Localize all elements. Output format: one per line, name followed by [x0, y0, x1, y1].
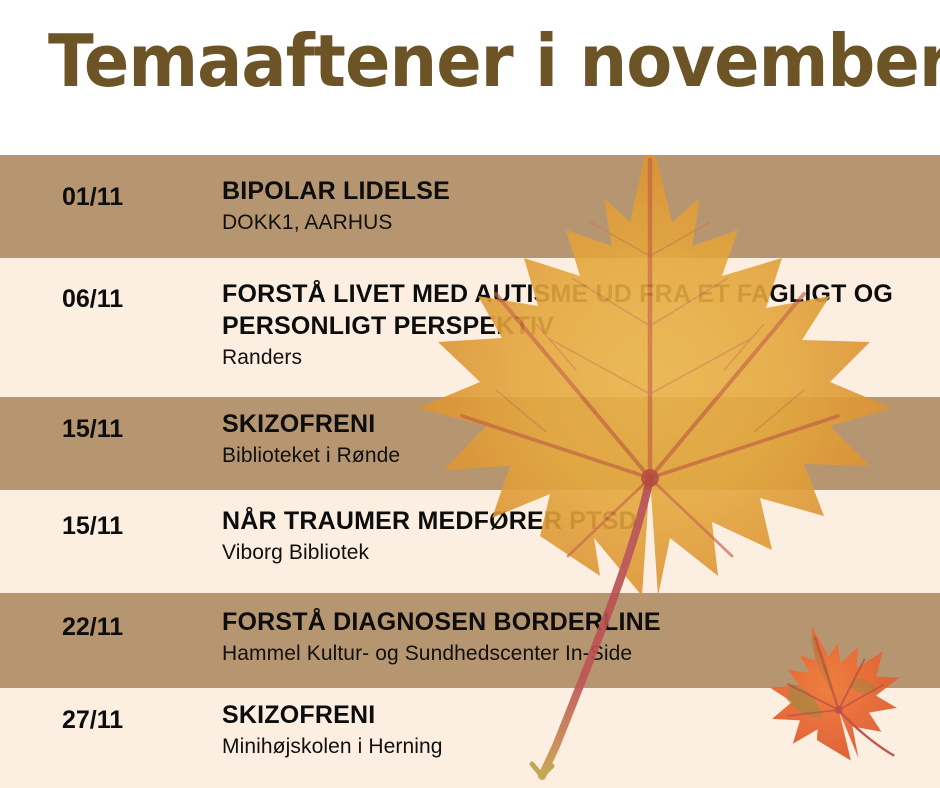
event-date: 15/11 — [62, 512, 212, 541]
poster-canvas: 01/11 BIPOLAR LIDELSE DOKK1, AARHUS 06/1… — [0, 0, 940, 788]
event-venue: Randers — [222, 345, 930, 371]
event-body: NÅR TRAUMER MEDFØRER PTSD Viborg Bibliot… — [222, 506, 930, 566]
poster-header: Temaaftener i november — [0, 0, 940, 155]
event-title: SKIZOFRENI — [222, 700, 930, 732]
event-date: 27/11 — [62, 706, 212, 735]
event-row: 15/11 SKIZOFRENI Biblioteket i Rønde — [0, 397, 940, 490]
event-title: SKIZOFRENI — [222, 409, 930, 441]
event-body: FORSTÅ LIVET MED AUTISME UD FRA ET FAGLI… — [222, 279, 930, 371]
event-row: 27/11 SKIZOFRENI Minihøjskolen i Herning — [0, 688, 940, 788]
event-body: FORSTÅ DIAGNOSEN BORDERLINE Hammel Kultu… — [222, 607, 930, 667]
event-venue: DOKK1, AARHUS — [222, 210, 930, 236]
event-title: FORSTÅ LIVET MED AUTISME UD FRA ET FAGLI… — [222, 279, 930, 343]
event-venue: Minihøjskolen i Herning — [222, 734, 930, 760]
event-row: 22/11 FORSTÅ DIAGNOSEN BORDERLINE Hammel… — [0, 593, 940, 688]
event-body: SKIZOFRENI Minihøjskolen i Herning — [222, 700, 930, 760]
event-row: 01/11 BIPOLAR LIDELSE DOKK1, AARHUS — [0, 155, 940, 258]
event-date: 15/11 — [62, 415, 212, 444]
event-title: NÅR TRAUMER MEDFØRER PTSD — [222, 506, 930, 538]
event-title: FORSTÅ DIAGNOSEN BORDERLINE — [222, 607, 930, 639]
event-title: BIPOLAR LIDELSE — [222, 176, 930, 208]
page-title: Temaaftener i november — [48, 24, 940, 100]
event-date: 01/11 — [62, 183, 212, 212]
event-body: BIPOLAR LIDELSE DOKK1, AARHUS — [222, 176, 930, 236]
event-date: 22/11 — [62, 613, 212, 642]
event-body: SKIZOFRENI Biblioteket i Rønde — [222, 409, 930, 469]
event-date: 06/11 — [62, 285, 212, 314]
event-row: 06/11 FORSTÅ LIVET MED AUTISME UD FRA ET… — [0, 258, 940, 397]
event-row: 15/11 NÅR TRAUMER MEDFØRER PTSD Viborg B… — [0, 490, 940, 593]
event-venue: Hammel Kultur- og Sundhedscenter In-Side — [222, 641, 930, 667]
event-venue: Biblioteket i Rønde — [222, 443, 930, 469]
event-venue: Viborg Bibliotek — [222, 540, 930, 566]
